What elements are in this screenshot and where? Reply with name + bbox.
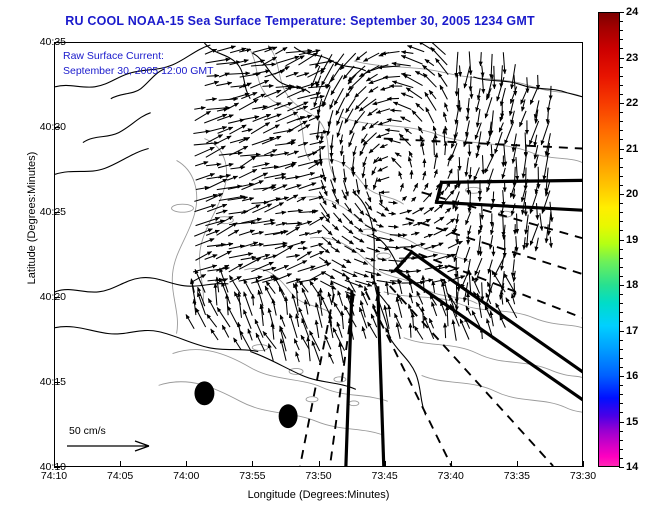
colorbar-minor-tick (620, 340, 623, 341)
current-vector (205, 82, 219, 86)
current-vector (476, 99, 479, 112)
current-vector (379, 192, 382, 205)
current-vector (298, 143, 308, 146)
current-vector (244, 310, 252, 329)
current-vector (345, 203, 352, 213)
current-vector (406, 88, 422, 99)
current-vector (299, 307, 307, 328)
current-vector (310, 281, 319, 295)
current-vector (217, 115, 233, 121)
current-vector (363, 157, 367, 167)
current-vector (536, 203, 537, 219)
current-vector (454, 225, 456, 233)
current-vector (393, 102, 411, 109)
current-vector (287, 116, 305, 123)
current-vector-field (186, 43, 552, 364)
current-vector (302, 318, 309, 337)
colorbar-tick-label: 15 (626, 417, 638, 427)
current-vector (343, 213, 354, 224)
current-vector (367, 248, 380, 252)
current-vector (409, 151, 412, 157)
current-vector (290, 314, 297, 338)
radar-site-marker (194, 381, 214, 405)
current-vector (468, 225, 471, 235)
current-vector (491, 145, 492, 159)
current-vector (316, 76, 320, 88)
current-vector (253, 71, 270, 75)
current-vector (400, 235, 407, 236)
current-vector (252, 173, 268, 181)
current-vector (472, 276, 480, 293)
current-vector (331, 246, 340, 252)
current-vector (514, 271, 516, 282)
current-vector (459, 65, 460, 76)
colorbar-minor-tick (620, 458, 623, 459)
current-vector (477, 109, 480, 127)
current-vector (296, 314, 298, 327)
colorbar-minor-tick (620, 130, 623, 131)
current-vector (334, 302, 343, 317)
current-vector (390, 110, 401, 111)
colorbar-tick-label: 16 (626, 371, 638, 381)
colorbar-minor-tick (620, 258, 623, 259)
current-vector (397, 297, 402, 318)
current-vector (378, 121, 389, 125)
current-vector (194, 205, 215, 212)
current-vector (435, 134, 437, 145)
colorbar-minor-tick (620, 121, 623, 122)
current-vector (218, 136, 232, 143)
colorbar-tick-label: 23 (626, 53, 638, 63)
current-vector (444, 112, 447, 122)
current-vector (299, 281, 308, 293)
y-axis-tick-mark (54, 212, 60, 213)
current-vector (365, 271, 381, 275)
x-axis-tick-label: 73:30 (556, 470, 610, 482)
colorbar-minor-tick (620, 312, 623, 313)
current-vector (309, 61, 333, 65)
current-vector (325, 335, 331, 349)
current-vector (459, 100, 460, 112)
current-vector (359, 99, 376, 111)
current-vector (468, 236, 469, 245)
colorbar-minor-tick (620, 158, 623, 159)
current-vector (410, 323, 411, 337)
current-vector (425, 59, 434, 65)
current-vector (468, 180, 469, 195)
current-vector (505, 122, 514, 144)
current-vector (433, 280, 444, 283)
current-vector (275, 153, 289, 156)
colorbar-minor-tick (620, 203, 623, 204)
current-vector (457, 75, 458, 96)
current-vector (512, 259, 514, 277)
current-vector (400, 117, 410, 122)
current-vector (354, 214, 363, 222)
current-vector (547, 110, 548, 124)
current-vector (228, 103, 239, 109)
current-vector (274, 66, 289, 74)
current-vector (378, 167, 388, 172)
current-vector (266, 281, 275, 293)
current-vector (388, 247, 401, 248)
current-vector (337, 322, 342, 338)
current-vector (422, 307, 423, 328)
current-vector (348, 74, 364, 90)
current-vector (275, 143, 295, 145)
current-vector (520, 111, 527, 127)
current-vector (229, 253, 253, 258)
current-vector (517, 213, 518, 233)
current-vector (464, 247, 469, 263)
current-vector (540, 213, 542, 230)
x-axis-tick-label: 73:55 (225, 470, 279, 482)
current-vector (392, 158, 402, 168)
colorbar-tick-mark (619, 103, 624, 104)
current-vector (506, 298, 517, 318)
current-vector (369, 87, 378, 93)
current-vector (356, 248, 365, 252)
current-vector (264, 203, 283, 213)
current-vector (363, 53, 379, 61)
current-vector (362, 327, 366, 339)
current-vector (402, 196, 406, 200)
current-vector (356, 179, 359, 194)
current-vector (269, 308, 274, 329)
current-vector (263, 268, 276, 271)
current-vector (333, 269, 347, 276)
current-vector (385, 130, 399, 132)
current-vector (241, 205, 260, 214)
vector-scale-legend: 50 cm/s (63, 425, 183, 458)
current-vector (287, 121, 307, 133)
current-vector (530, 86, 538, 104)
current-vector (550, 237, 551, 248)
y-axis-tick-mark (54, 467, 60, 468)
current-vector (205, 255, 218, 260)
current-vector (286, 227, 299, 235)
radar-site-markers (194, 381, 297, 428)
colorbar-minor-tick (620, 358, 623, 359)
current-vector (482, 75, 483, 94)
current-vector (195, 252, 211, 261)
current-vector (206, 164, 221, 166)
current-vector (541, 121, 549, 145)
current-vector (376, 133, 389, 137)
current-vector (405, 128, 412, 133)
x-axis-tick-mark (583, 461, 584, 467)
current-vector (298, 266, 316, 271)
current-vector (286, 279, 300, 283)
current-vector (433, 126, 435, 134)
current-vector (299, 233, 309, 236)
current-vector (361, 300, 366, 317)
current-vector (332, 224, 338, 230)
current-vector (346, 98, 356, 112)
current-vector (252, 204, 271, 213)
current-vector (395, 153, 401, 157)
current-vector (417, 291, 423, 304)
current-vector (273, 299, 277, 316)
current-vector (328, 110, 333, 126)
current-vector (374, 178, 378, 190)
current-vector (251, 262, 273, 271)
current-vector (353, 189, 355, 195)
current-vector (366, 74, 377, 81)
x-axis-tick-label: 74:00 (159, 470, 213, 482)
current-vector (494, 257, 504, 277)
current-vector (516, 236, 517, 252)
current-vector (229, 125, 246, 134)
current-vector (377, 212, 386, 217)
current-vector (332, 203, 336, 209)
current-vector (329, 353, 334, 364)
current-vector (296, 106, 307, 110)
current-vector (380, 87, 390, 90)
colorbar-minor-tick (620, 230, 623, 231)
x-axis-tick-label: 73:50 (292, 470, 346, 482)
current-vector (451, 143, 457, 159)
current-vector (264, 223, 276, 225)
current-vector (317, 121, 319, 140)
current-vector (445, 141, 446, 155)
colorbar-tick-label: 22 (626, 98, 638, 108)
current-vector (230, 138, 248, 143)
current-vector (350, 122, 357, 135)
current-vector (349, 133, 354, 147)
current-vector (502, 202, 505, 215)
y-axis-tick-mark (54, 297, 60, 298)
colorbar-minor-tick (620, 30, 623, 31)
current-vector (264, 149, 277, 155)
colorbar-minor-tick (620, 94, 623, 95)
colorbar-minor-tick (620, 403, 623, 404)
colorbar-minor-tick (620, 39, 623, 40)
current-vector (380, 192, 390, 193)
current-vector (229, 276, 240, 295)
current-vector (536, 238, 539, 251)
y-axis-title: Latitude (Degrees:Minutes) (26, 98, 38, 338)
current-vector (206, 146, 226, 157)
current-vector (401, 56, 422, 65)
colorbar-minor-tick (620, 48, 623, 49)
current-vector (371, 314, 377, 327)
current-vector (297, 251, 311, 260)
current-vector (253, 114, 271, 121)
current-vector (372, 167, 376, 175)
current-vector (491, 311, 494, 326)
current-vector (411, 233, 419, 235)
current-vector (482, 282, 483, 301)
colorbar-tick-mark (619, 422, 624, 423)
current-vector (363, 133, 376, 146)
current-vector (426, 107, 434, 123)
current-vector (207, 204, 227, 211)
current-vector (503, 52, 505, 74)
current-vector (342, 190, 347, 200)
x-axis-tick-mark (451, 461, 452, 467)
current-vector (380, 145, 387, 148)
current-vector (402, 223, 413, 225)
current-vector (217, 277, 219, 292)
current-vector (229, 146, 248, 155)
current-vector (217, 46, 235, 51)
current-vector (355, 86, 367, 97)
current-vector (448, 169, 452, 179)
current-vector (434, 169, 437, 177)
current-vector (460, 319, 469, 340)
current-vector (453, 191, 459, 209)
y-axis-tick-mark (54, 127, 60, 128)
current-vector (447, 219, 455, 225)
x-axis-tick-label: 73:35 (490, 470, 544, 482)
colorbar-tick-mark (619, 12, 624, 13)
colorbar-tick-label: 21 (626, 144, 638, 154)
y-axis-tick-mark (54, 42, 60, 43)
current-vector (310, 104, 326, 110)
current-vector (195, 239, 214, 246)
current-vector (252, 232, 264, 235)
current-vector (253, 187, 275, 189)
colorbar-minor-tick (620, 185, 623, 186)
current-vector (274, 265, 289, 271)
current-vector (482, 328, 483, 339)
plot-annotation: Raw Surface Current: September 30, 2005 … (63, 49, 214, 79)
current-vector (503, 214, 504, 236)
current-vector (366, 179, 367, 190)
current-vector (388, 140, 400, 143)
current-vector (342, 311, 344, 329)
current-vector (365, 225, 377, 231)
current-vector (309, 231, 322, 235)
current-vector (381, 51, 399, 53)
current-vector (319, 257, 329, 263)
current-vector (309, 211, 318, 212)
current-vector (219, 73, 229, 77)
current-vector (410, 293, 413, 303)
current-vector (379, 203, 389, 211)
current-vector (228, 306, 239, 327)
current-vector (422, 219, 430, 223)
colorbar-tick-mark (619, 376, 624, 377)
current-vector (387, 119, 402, 121)
current-vector (287, 242, 305, 247)
colorbar-tick-label: 18 (626, 280, 638, 290)
current-vector (258, 290, 263, 306)
current-vector (310, 251, 324, 257)
current-vector (251, 123, 270, 134)
current-vector (448, 241, 463, 248)
current-vector (468, 293, 469, 306)
current-vector (470, 167, 471, 179)
current-vector (445, 190, 454, 201)
current-vector (344, 259, 351, 263)
current-vector (478, 88, 480, 100)
current-vector (401, 93, 413, 98)
current-vector (354, 226, 362, 232)
current-vector (234, 338, 242, 350)
current-vector (331, 155, 332, 164)
current-vector (356, 52, 367, 61)
colorbar-minor-tick (620, 349, 623, 350)
x-axis-tick-label: 74:05 (93, 470, 147, 482)
current-vector (445, 103, 448, 112)
current-vector (332, 237, 341, 244)
current-vector (434, 138, 435, 155)
current-vector (360, 145, 365, 156)
current-vector (286, 73, 298, 77)
colorbar-minor-tick (620, 449, 623, 450)
colorbar-minor-tick (620, 412, 623, 413)
current-vector (494, 66, 495, 89)
current-vector (252, 163, 269, 167)
current-vector (414, 326, 422, 339)
current-vector (308, 146, 326, 156)
current-vector (516, 157, 517, 180)
colorbar-minor-tick (620, 85, 623, 86)
current-vector (332, 166, 335, 182)
current-vector (310, 141, 324, 144)
colorbar-minor-tick (620, 276, 623, 277)
colorbar-minor-tick (620, 167, 623, 168)
colorbar-minor-tick (620, 212, 623, 213)
sst-current-map-figure: RU COOL NOAA-15 Sea Surface Temperature:… (0, 0, 651, 519)
colorbar-tick-label: 17 (626, 326, 638, 336)
colorbar-tick-label: 20 (626, 189, 638, 199)
current-vector (458, 169, 459, 188)
current-vector (216, 83, 232, 86)
x-axis-tick-mark (54, 461, 55, 467)
current-vector (389, 270, 402, 271)
current-vector (309, 175, 325, 179)
current-vector (373, 304, 377, 317)
current-vector (321, 64, 333, 86)
current-vector (474, 167, 479, 180)
current-vector (253, 94, 265, 100)
current-vector (193, 265, 217, 272)
current-vector (369, 144, 379, 153)
current-vector (529, 121, 538, 145)
current-vector (341, 146, 342, 156)
current-vector (261, 304, 263, 325)
current-vector (319, 192, 326, 205)
radar-site-marker (279, 404, 298, 428)
current-vector (407, 46, 424, 52)
x-axis-tick-mark (319, 461, 320, 467)
current-vector (186, 315, 194, 329)
current-vector (264, 114, 281, 120)
vector-scale-arrow (63, 437, 173, 453)
current-vector (480, 52, 481, 66)
current-vector (403, 75, 423, 86)
current-vector (287, 89, 306, 97)
current-vector (485, 97, 492, 118)
current-vector (355, 203, 364, 215)
current-vector (377, 156, 388, 160)
current-vector (353, 236, 364, 242)
current-vector (411, 271, 421, 272)
colorbar-tick-mark (619, 331, 624, 332)
colorbar-tick-label: 14 (626, 462, 638, 472)
current-vector (242, 198, 254, 201)
current-vector (228, 230, 239, 236)
current-vector (388, 226, 398, 227)
current-vector (438, 73, 447, 87)
current-vector (286, 223, 302, 224)
current-vector (400, 183, 403, 191)
current-vector (195, 147, 215, 156)
current-vector (322, 225, 332, 235)
